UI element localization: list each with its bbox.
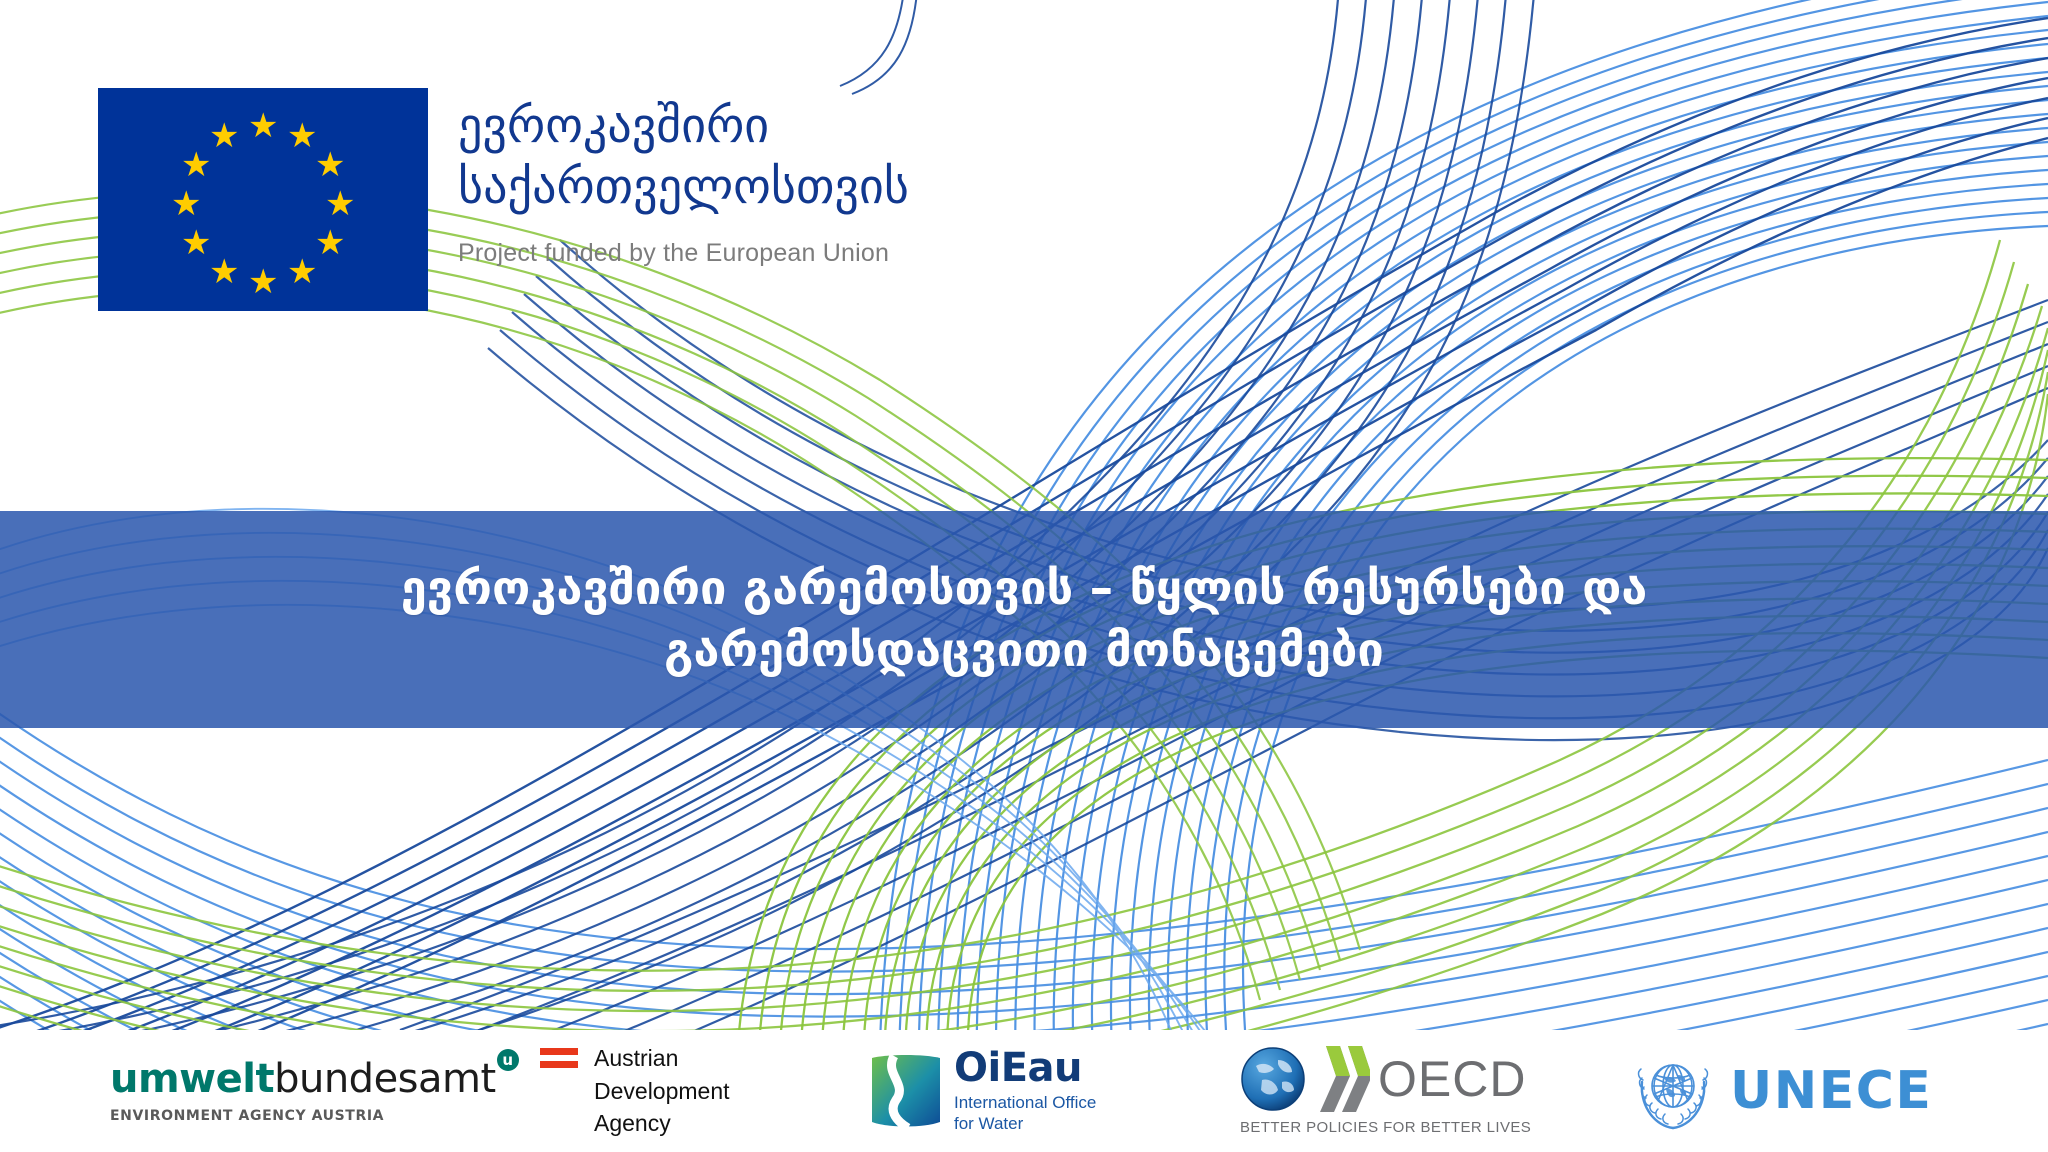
oecd-chevron-icon — [1314, 1046, 1370, 1112]
logo-umweltbundesamt[interactable]: umweltbundesamtu ENVIRONMENT AGENCY AUST… — [110, 1059, 540, 1124]
page-title-line-2: გარემოსდაცვითი მონაცემები — [194, 620, 1854, 681]
oieau-wordmark: OiEau — [954, 1048, 1096, 1088]
eu-star: ★ — [181, 150, 211, 180]
eu-star: ★ — [181, 228, 211, 258]
oieau-water-mark-icon — [870, 1052, 942, 1130]
eu-star: ★ — [287, 257, 317, 287]
eu-star: ★ — [315, 150, 345, 180]
oieau-tagline-line-2: for Water — [954, 1113, 1096, 1134]
ada-line-2: Development — [594, 1075, 730, 1108]
eu-star: ★ — [248, 267, 278, 297]
partner-logo-strip: umweltbundesamtu ENVIRONMENT AGENCY AUST… — [0, 1030, 2048, 1152]
page-title: ევროკავშირი გარემოსთვის – წყლის რესურსებ… — [194, 558, 1854, 680]
title-banner: ევროკავშირი გარემოსთვის – წყლის რესურსებ… — [0, 511, 2048, 728]
logo-oecd[interactable]: OECD BETTER POLICIES FOR BETTER LIVES — [1240, 1046, 1630, 1136]
logo-oieau[interactable]: OiEau International Office for Water — [870, 1048, 1240, 1135]
oecd-wordmark: OECD — [1378, 1054, 1526, 1104]
eu-star: ★ — [171, 189, 201, 219]
eu-star: ★ — [325, 189, 355, 219]
eu-star: ★ — [248, 111, 278, 141]
eu-funding-subtitle: Project funded by the European Union — [458, 239, 909, 268]
umweltbundesamt-word-light: bundesamt — [274, 1056, 496, 1102]
ada-line-3: Agency — [594, 1107, 730, 1140]
eu-star: ★ — [315, 228, 345, 258]
oieau-tagline: International Office for Water — [954, 1092, 1096, 1135]
eu-logo-text: ევროკავშირი საქართველოსთვის Project fund… — [458, 88, 909, 268]
eu-star: ★ — [209, 257, 239, 287]
umweltbundesamt-wordmark: umweltbundesamtu — [110, 1059, 519, 1099]
ada-wordmark: Austrian Development Agency — [594, 1042, 730, 1140]
unece-wordmark: UNECE — [1730, 1065, 1932, 1117]
austria-flag-icon — [540, 1042, 578, 1068]
eu-funding-logo: ★ ★ ★ ★ ★ ★ ★ ★ ★ ★ ★ ★ ევროკავშირი საქა… — [98, 88, 909, 311]
eu-title-line-2: საქართველოსთვის — [458, 157, 909, 218]
umweltbundesamt-tagline: ENVIRONMENT AGENCY AUSTRIA — [110, 1108, 519, 1124]
page-title-line-1: ევროკავშირი გარემოსთვის – წყლის რესურსებ… — [194, 558, 1854, 619]
oecd-tagline: BETTER POLICIES FOR BETTER LIVES — [1240, 1119, 1531, 1136]
title-slide: ★ ★ ★ ★ ★ ★ ★ ★ ★ ★ ★ ★ ევროკავშირი საქა… — [0, 0, 2048, 1152]
oieau-tagline-line-1: International Office — [954, 1092, 1096, 1113]
ada-line-1: Austrian — [594, 1042, 730, 1075]
european-union-flag: ★ ★ ★ ★ ★ ★ ★ ★ ★ ★ ★ ★ — [98, 88, 428, 311]
eu-star: ★ — [287, 121, 317, 151]
eu-title-line-1: ევროკავშირი — [458, 96, 909, 157]
united-nations-emblem-icon — [1630, 1048, 1716, 1134]
logo-unece[interactable]: UNECE — [1630, 1048, 1960, 1134]
umweltbundesamt-word-bold: umwelt — [110, 1056, 274, 1102]
umweltbundesamt-superscript-icon: u — [497, 1049, 519, 1071]
logo-austrian-development-agency[interactable]: Austrian Development Agency — [540, 1042, 870, 1140]
eu-star: ★ — [209, 121, 239, 151]
oecd-globe-icon — [1240, 1046, 1306, 1112]
